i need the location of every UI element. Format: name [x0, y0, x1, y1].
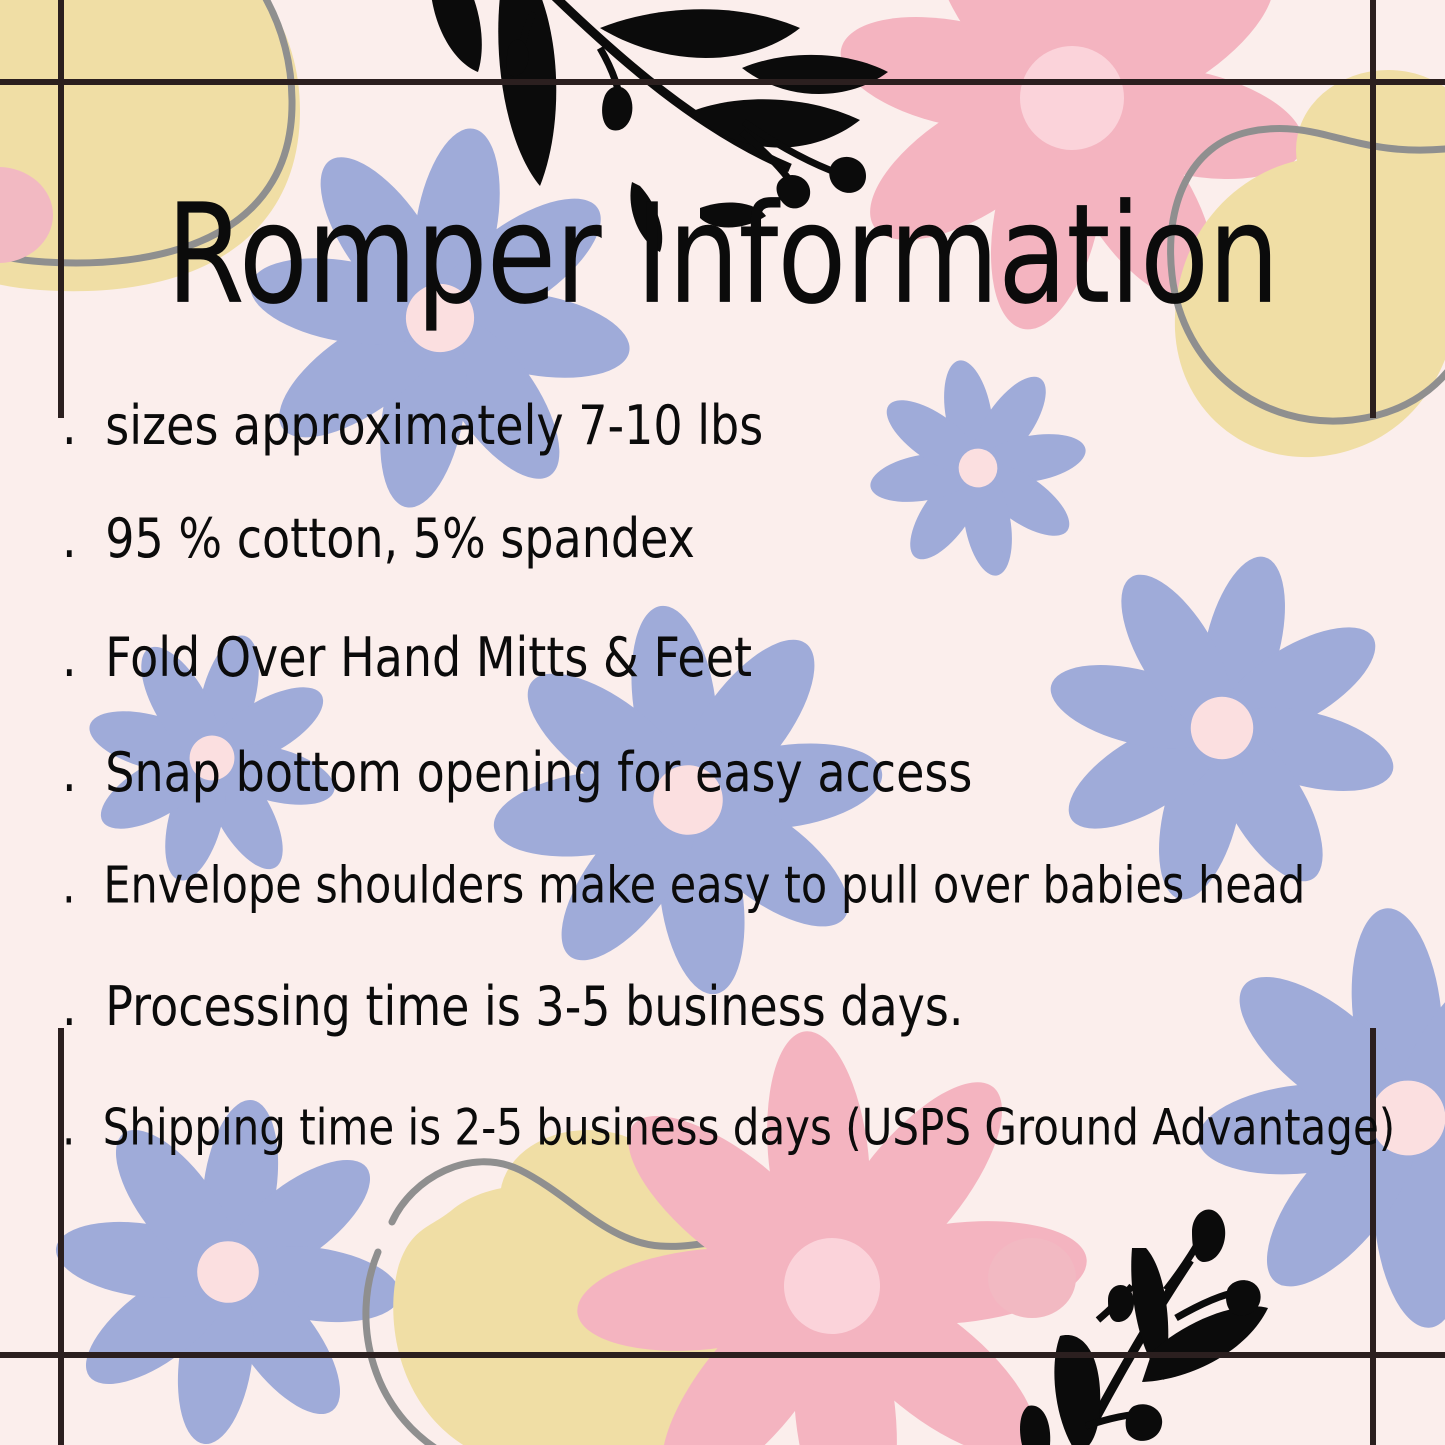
bullet-marker: .	[62, 625, 77, 689]
list-item: . 95 % cotton, 5% spandex	[62, 506, 695, 570]
list-item: . Processing time is 3-5 business days.	[62, 974, 963, 1038]
list-item: . Snap bottom opening for easy access	[62, 740, 972, 804]
list-item: . Fold Over Hand Mitts & Feet	[62, 625, 752, 689]
page-title: Romper Information	[0, 186, 1445, 324]
bullet-text: Fold Over Hand Mitts & Feet	[105, 625, 752, 689]
list-item: . sizes approximately 7-10 lbs	[62, 393, 763, 457]
bullet-text: sizes approximately 7-10 lbs	[105, 393, 763, 457]
bullet-text: Snap bottom opening for easy access	[105, 740, 972, 804]
bullet-marker: .	[62, 974, 77, 1038]
list-item: . Envelope shoulders make easy to pull o…	[62, 857, 1305, 916]
bullet-marker: .	[62, 393, 77, 457]
bullet-text: Envelope shoulders make easy to pull ove…	[103, 857, 1305, 916]
bullet-marker: .	[62, 1099, 75, 1157]
bullet-text: Shipping time is 2-5 business days (USPS…	[103, 1099, 1395, 1157]
poster-content: Romper Information . sizes approximately…	[0, 0, 1445, 1445]
bullet-text: Processing time is 3-5 business days.	[105, 974, 963, 1038]
bullet-marker: .	[62, 740, 77, 804]
bullet-marker: .	[62, 506, 77, 570]
bullet-marker: .	[62, 857, 76, 916]
bullet-text: 95 % cotton, 5% spandex	[105, 506, 695, 570]
list-item: . Shipping time is 2-5 business days (US…	[62, 1099, 1395, 1157]
poster-canvas: Romper Information . sizes approximately…	[0, 0, 1445, 1445]
